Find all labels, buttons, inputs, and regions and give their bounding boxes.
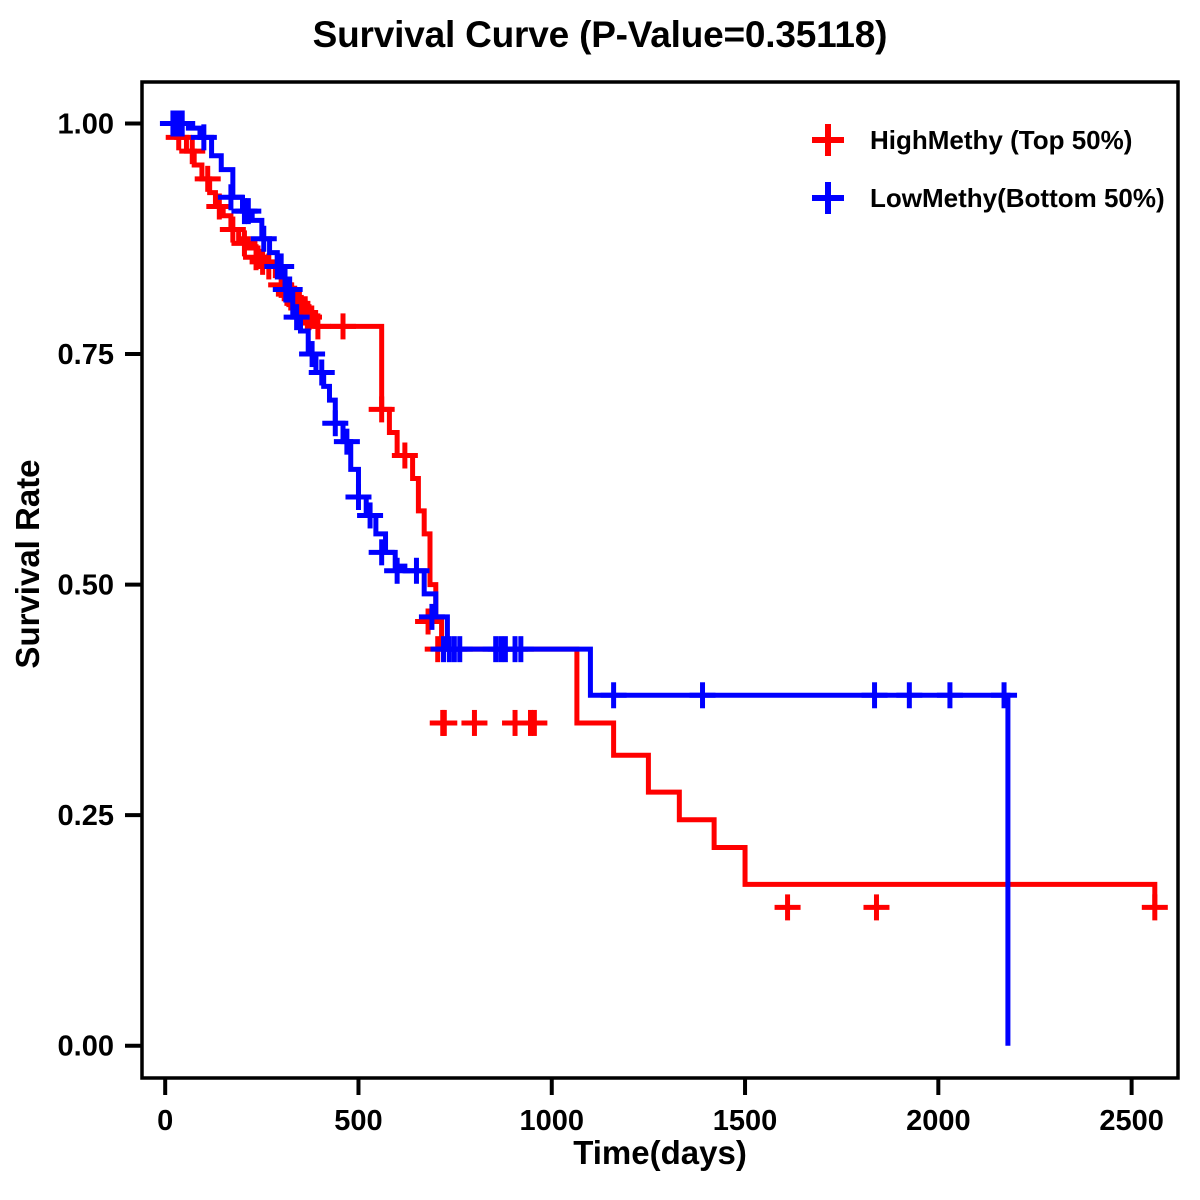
plot-frame-rect bbox=[142, 82, 1178, 1078]
x-tick-label: 2000 bbox=[906, 1105, 971, 1137]
x-tick-label: 2500 bbox=[1099, 1105, 1164, 1137]
y-tick-label: 0.50 bbox=[58, 570, 114, 602]
plot-frame bbox=[142, 82, 1178, 1078]
x-tick-label: 500 bbox=[334, 1105, 382, 1137]
y-tick-label: 1.00 bbox=[58, 109, 114, 141]
y-tick-label: 0.00 bbox=[58, 1031, 114, 1063]
x-tick-label: 1500 bbox=[713, 1105, 778, 1137]
x-tick-label: 0 bbox=[157, 1105, 173, 1137]
x-tick-label: 1000 bbox=[520, 1105, 585, 1137]
survival-curve-figure: Survival Curve (P-Value=0.35118) Surviva… bbox=[0, 0, 1200, 1200]
legend-label: LowMethy(Bottom 50%) bbox=[870, 183, 1165, 213]
y-tick-label: 0.75 bbox=[58, 339, 114, 371]
plot-area: 050010001500200025000.000.250.500.751.00… bbox=[0, 0, 1200, 1200]
legend-label: HighMethy (Top 50%) bbox=[870, 125, 1132, 155]
y-tick-label: 0.25 bbox=[58, 800, 114, 832]
